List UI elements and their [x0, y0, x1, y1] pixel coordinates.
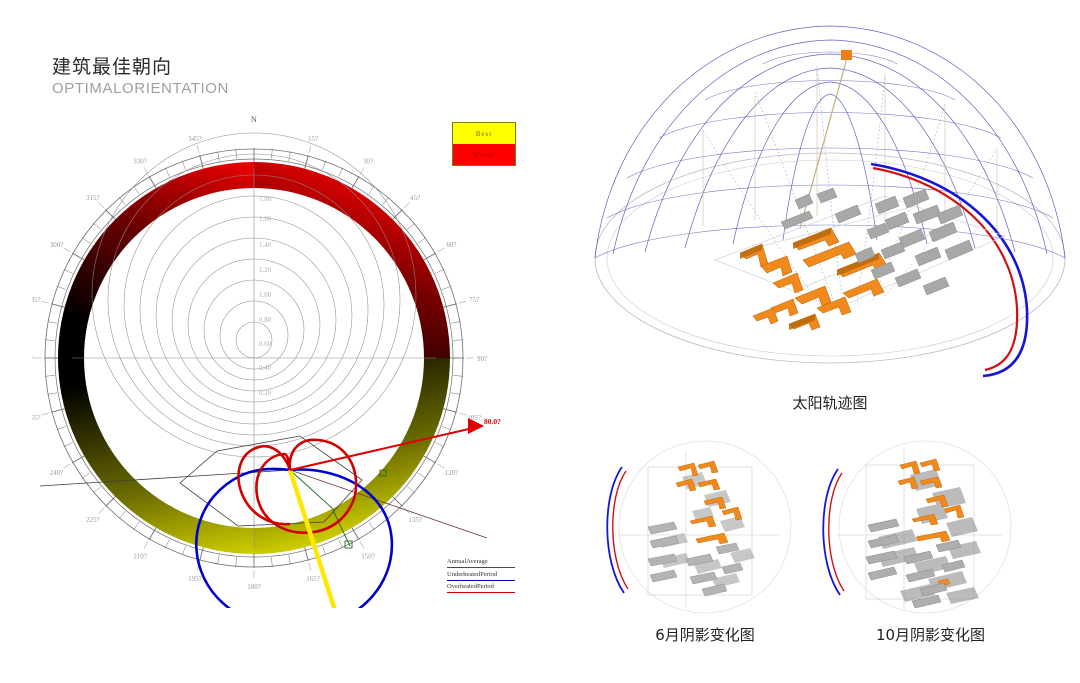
sun-path-diagram [585, 8, 1075, 388]
dome-latitude-lines [595, 52, 1065, 258]
sun-marker-icon [841, 50, 852, 60]
polar-chart-svg: 1.80 1.60 1.40 1.20 1.00 0.80 0.60 0.40 … [32, 108, 517, 608]
angle-leader-tick [41, 301, 49, 303]
angle-label-150: 150? [361, 552, 375, 560]
angle-leader-tick [41, 413, 49, 415]
angle-label-120: 120? [445, 469, 459, 477]
cardinal-north-label: N [251, 115, 257, 124]
legend-item-underheated-period: UnderheatedPeriod [447, 570, 515, 581]
optimal-orientation-panel: 建筑最佳朝向 OPTIMALORIENTATION [0, 0, 545, 683]
angle-leader-tick [360, 167, 364, 174]
dome-longitude-lines [595, 26, 1065, 258]
angle-label-165: 165? [306, 575, 320, 583]
title-english: OPTIMALORIENTATION [52, 79, 229, 98]
series-legend: AnnualAverage UnderheatedPeriod Overheat… [447, 557, 515, 595]
legend-item-overheated-period: OverheatedPeriod [447, 582, 515, 593]
angle-leader-tick [360, 542, 364, 549]
angle-label-60: 60? [446, 241, 456, 249]
legend-worst: Worst [453, 144, 515, 165]
legend-item-annual-average: AnnualAverage [447, 557, 515, 568]
angle-label-330: 330? [133, 158, 147, 166]
angle-label-30: 30? [363, 158, 373, 166]
shadow-october-caption: 10月阴影变化图 [818, 624, 1043, 645]
angle-label-90: 90? [477, 355, 487, 363]
radial-axis-labels: 1.80 1.60 1.40 1.20 1.00 0.80 0.60 0.40 … [259, 195, 272, 397]
angle-label-285: 285? [32, 296, 41, 304]
shadow-june-svg [600, 435, 810, 620]
angle-leader-tick [144, 167, 148, 174]
angle-axis-labels: 15?30?45?60?75?90?105?120?135?150?165?18… [32, 135, 487, 591]
building-group-grey [648, 522, 743, 596]
angle-leader-tick [404, 202, 410, 208]
angle-leader-tick [438, 248, 445, 252]
shadow-diagram-october [820, 435, 1030, 620]
angle-leader-tick [98, 202, 104, 208]
sun-path-caption: 太阳轨迹图 [585, 392, 1075, 413]
angle-leader-tick [63, 464, 70, 468]
radial-label-0.60: 0.60 [259, 340, 272, 348]
angle-label-135: 135? [408, 516, 422, 524]
sun-path-winter-arc [607, 467, 624, 593]
angle-leader-tick [459, 413, 467, 415]
angle-leader-tick [98, 508, 104, 514]
angle-label-210: 210? [133, 552, 147, 560]
angle-leader-tick [144, 542, 148, 549]
title-chinese: 建筑最佳朝向 [52, 56, 229, 78]
optimal-orientation-line [290, 426, 482, 470]
sun-path-winter-arc [823, 469, 840, 595]
radial-label-1.20: 1.20 [259, 266, 272, 274]
radial-label-1.60: 1.60 [259, 215, 272, 223]
radial-label-0.20: 0.20 [259, 389, 272, 397]
angle-label-195: 195? [188, 575, 202, 583]
shadow-diagram-june [600, 435, 810, 620]
angle-label-45: 45? [410, 194, 420, 202]
angle-label-180: 180? [247, 583, 261, 591]
angle-label-225: 225? [86, 516, 100, 524]
angle-label-345: 345? [188, 135, 202, 143]
legend-best: Best [453, 123, 515, 144]
page-title: 建筑最佳朝向 OPTIMALORIENTATION [52, 56, 229, 98]
sun-path-svg [585, 8, 1075, 388]
shadow-june-caption: 6月阴影变化图 [595, 624, 815, 645]
radial-label-1.00: 1.00 [259, 291, 272, 299]
radial-label-0.40: 0.40 [259, 364, 272, 372]
radial-label-1.40: 1.40 [259, 241, 272, 249]
angle-leader-tick [438, 464, 445, 468]
angle-label-240: 240? [50, 469, 64, 477]
building-group-orange [740, 228, 888, 330]
optimal-orientation-label: 80.0? [484, 417, 501, 426]
angle-label-255: 255? [32, 414, 41, 422]
angle-label-270: 270? [32, 355, 33, 363]
angle-leader-tick [309, 563, 311, 571]
angle-label-75: 75? [469, 296, 479, 304]
angle-leader-tick [459, 301, 467, 303]
sun-path-summer-arc [829, 473, 844, 591]
angle-label-300: 300? [50, 241, 64, 249]
best-worst-legend: Best Worst [452, 122, 516, 166]
polar-chart: 1.80 1.60 1.40 1.20 1.00 0.80 0.60 0.40 … [32, 108, 517, 608]
radial-label-1.80: 1.80 [259, 195, 272, 203]
angle-leader-tick [63, 248, 70, 252]
radial-label-0.80: 0.80 [259, 316, 272, 324]
angle-leader-tick [309, 145, 311, 153]
angle-label-15: 15? [308, 135, 318, 143]
shadow-october-svg [820, 435, 1030, 620]
angle-label-315: 315? [86, 194, 100, 202]
angle-leader-tick [197, 145, 199, 153]
sun-path-summer-arc [613, 471, 628, 589]
